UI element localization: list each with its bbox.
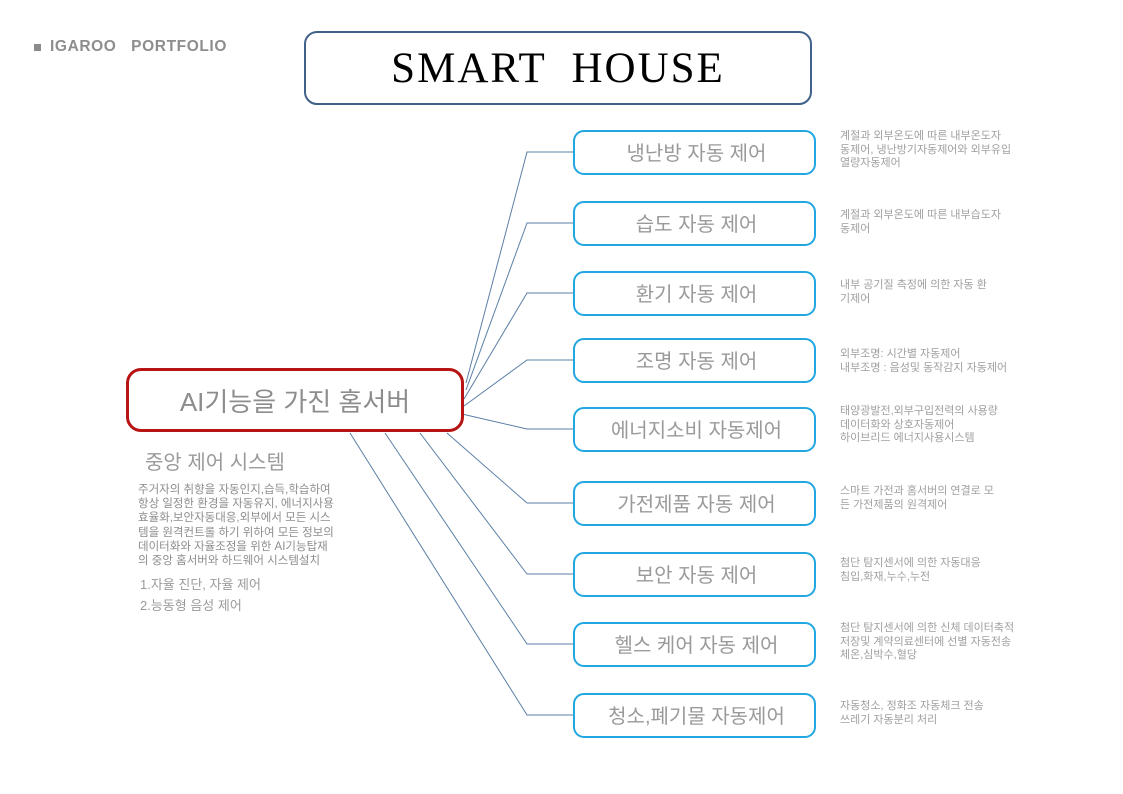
connector-line-8 bbox=[385, 433, 573, 644]
feature-box-label: 헬스 케어 자동 제어 bbox=[583, 631, 810, 661]
feature-box-label: 환기 자동 제어 bbox=[583, 280, 810, 310]
connector-line-2 bbox=[466, 223, 573, 390]
page-title: SMART HOUSE bbox=[304, 31, 812, 105]
feature-description-1: 계절과 외부온도에 따른 내부온도자 동제어, 냉난방기자동제어와 외부유입 열… bbox=[840, 130, 1050, 171]
left-panel-body: 주거자의 취향을 자동인지,습득,학습하여 항상 일정한 환경을 자동유지, 에… bbox=[138, 483, 353, 568]
connector-line-6 bbox=[447, 433, 573, 503]
feature-description-5: 태양광발전,외부구입전력의 사용량 데이터화와 상호자동제어 하이브리드 에너지… bbox=[840, 405, 1050, 446]
connector-line-9 bbox=[350, 433, 573, 715]
square-bullet-icon bbox=[34, 44, 41, 51]
feature-box-4[interactable]: 조명 자동 제어 bbox=[573, 338, 816, 383]
feature-box-6[interactable]: 가전제품 자동 제어 bbox=[573, 481, 816, 526]
feature-description-4: 외부조명: 시간별 자동제어 내부조명 : 음성및 동작감지 자동제어 bbox=[840, 348, 1050, 375]
left-panel-list: 1.자율 진단, 자율 제어 2.능동형 음성 제어 bbox=[140, 574, 360, 616]
feature-box-label: 조명 자동 제어 bbox=[583, 347, 810, 377]
left-panel-heading: 중앙 제어 시스템 bbox=[145, 448, 325, 478]
breadcrumb: IGAROO PORTFOLIO bbox=[34, 38, 227, 56]
feature-box-5[interactable]: 에너지소비 자동제어 bbox=[573, 407, 816, 452]
feature-box-3[interactable]: 환기 자동 제어 bbox=[573, 271, 816, 316]
feature-box-1[interactable]: 냉난방 자동 제어 bbox=[573, 130, 816, 175]
feature-box-label: 가전제품 자동 제어 bbox=[583, 490, 810, 520]
page-title-label: SMART HOUSE bbox=[391, 44, 725, 93]
feature-description-6: 스마트 가전과 홈서버의 연결로 모 든 가전제품의 원격제어 bbox=[840, 485, 1050, 512]
connector-line-1 bbox=[466, 152, 573, 383]
feature-description-9: 자동청소, 정화조 자동체크 전송 쓰레기 자동분리 처리 bbox=[840, 700, 1050, 727]
slide-canvas: IGAROO PORTFOLIO SMART HOUSE AI기능을 가진 홈서… bbox=[0, 0, 1123, 794]
feature-description-7: 첨단 탐지센서에 의한 자동대응 침입,화재,누수,누전 bbox=[840, 557, 1050, 584]
feature-description-2: 계절과 외부온도에 따른 내부습도자 동제어 bbox=[840, 209, 1050, 236]
feature-description-3: 내부 공기질 측정에 의한 자동 환 기제어 bbox=[840, 279, 1050, 306]
feature-box-8[interactable]: 헬스 케어 자동 제어 bbox=[573, 622, 816, 667]
feature-box-label: 보안 자동 제어 bbox=[583, 561, 810, 591]
connector-line-7 bbox=[420, 433, 573, 574]
center-node[interactable]: AI기능을 가진 홈서버 bbox=[126, 368, 464, 432]
feature-box-label: 에너지소비 자동제어 bbox=[583, 416, 810, 446]
feature-box-label: 습도 자동 제어 bbox=[583, 210, 810, 240]
feature-box-label: 청소,폐기물 자동제어 bbox=[583, 702, 810, 732]
feature-box-9[interactable]: 청소,폐기물 자동제어 bbox=[573, 693, 816, 738]
feature-box-label: 냉난방 자동 제어 bbox=[583, 139, 810, 169]
feature-box-7[interactable]: 보안 자동 제어 bbox=[573, 552, 816, 597]
connector-line-3 bbox=[464, 293, 573, 399]
brand-label: IGAROO PORTFOLIO bbox=[50, 38, 227, 56]
feature-description-8: 첨단 탐지센서에 의한 신체 데이터축적 저장및 계약의료센터에 선별 자동전송… bbox=[840, 622, 1050, 663]
connector-line-4 bbox=[464, 360, 573, 406]
feature-box-2[interactable]: 습도 자동 제어 bbox=[573, 201, 816, 246]
center-node-label: AI기능을 가진 홈서버 bbox=[180, 382, 410, 419]
connector-line-5 bbox=[462, 414, 573, 429]
